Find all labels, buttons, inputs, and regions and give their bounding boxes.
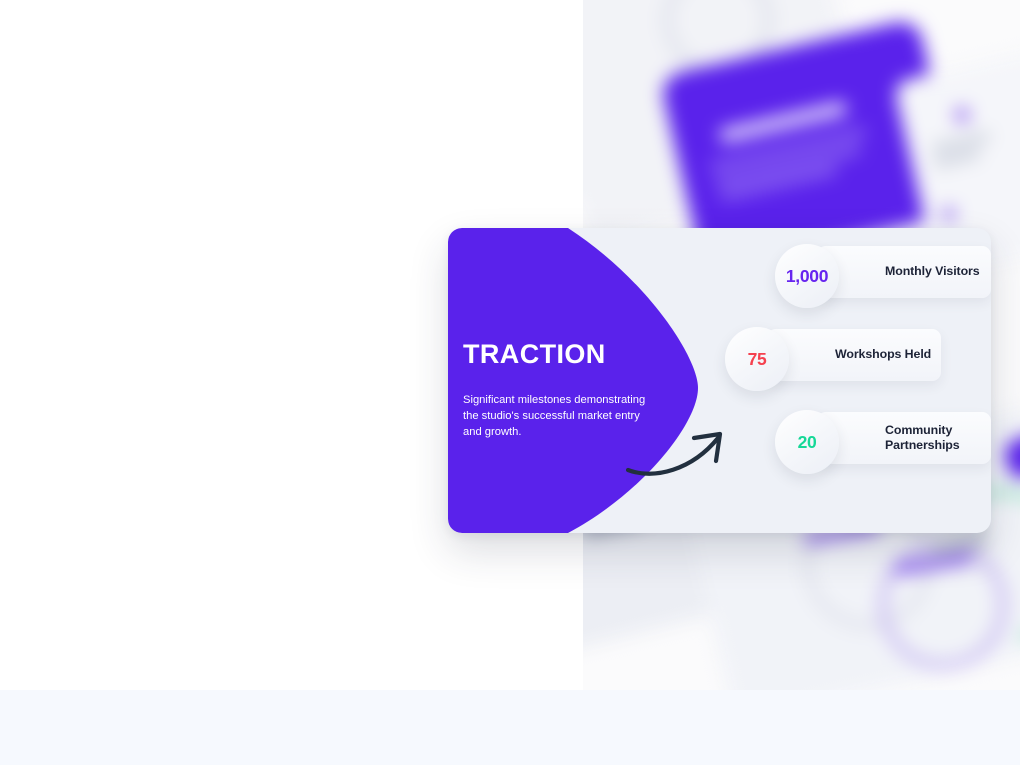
metric-item[interactable]: Community Partnerships 20	[775, 410, 991, 466]
metric-label: Community Partnerships	[817, 423, 991, 454]
metric-label: Workshops Held	[767, 347, 931, 363]
metric-value-circle: 1,000	[775, 244, 839, 308]
metric-label-bar: Community Partnerships	[817, 412, 991, 464]
metric-label-bar: Monthly Visitors	[817, 246, 991, 298]
metric-label-bar: Workshops Held	[767, 329, 941, 381]
metric-value: 20	[798, 432, 817, 453]
bottom-band	[0, 690, 1020, 765]
metric-label: Monthly Visitors	[817, 264, 980, 280]
traction-slide-card: TRACTION Significant milestones demonstr…	[448, 228, 991, 533]
slide-preview-page: READY Business Plans Traction Provide ta…	[0, 0, 1020, 765]
backdrop-dot-purple-b	[943, 208, 955, 220]
metric-value-circle: 75	[725, 327, 789, 391]
metric-value-circle: 20	[775, 410, 839, 474]
metric-value: 1,000	[786, 266, 828, 287]
metric-item[interactable]: Workshops Held 75	[725, 327, 941, 383]
metric-value: 75	[748, 349, 767, 370]
backdrop-dot-purple-a	[955, 108, 969, 122]
metric-list: Monthly Visitors 1,000 Workshops Held 75…	[711, 228, 991, 533]
slide-title: TRACTION	[463, 341, 606, 368]
metric-item[interactable]: Monthly Visitors 1,000	[775, 244, 991, 300]
